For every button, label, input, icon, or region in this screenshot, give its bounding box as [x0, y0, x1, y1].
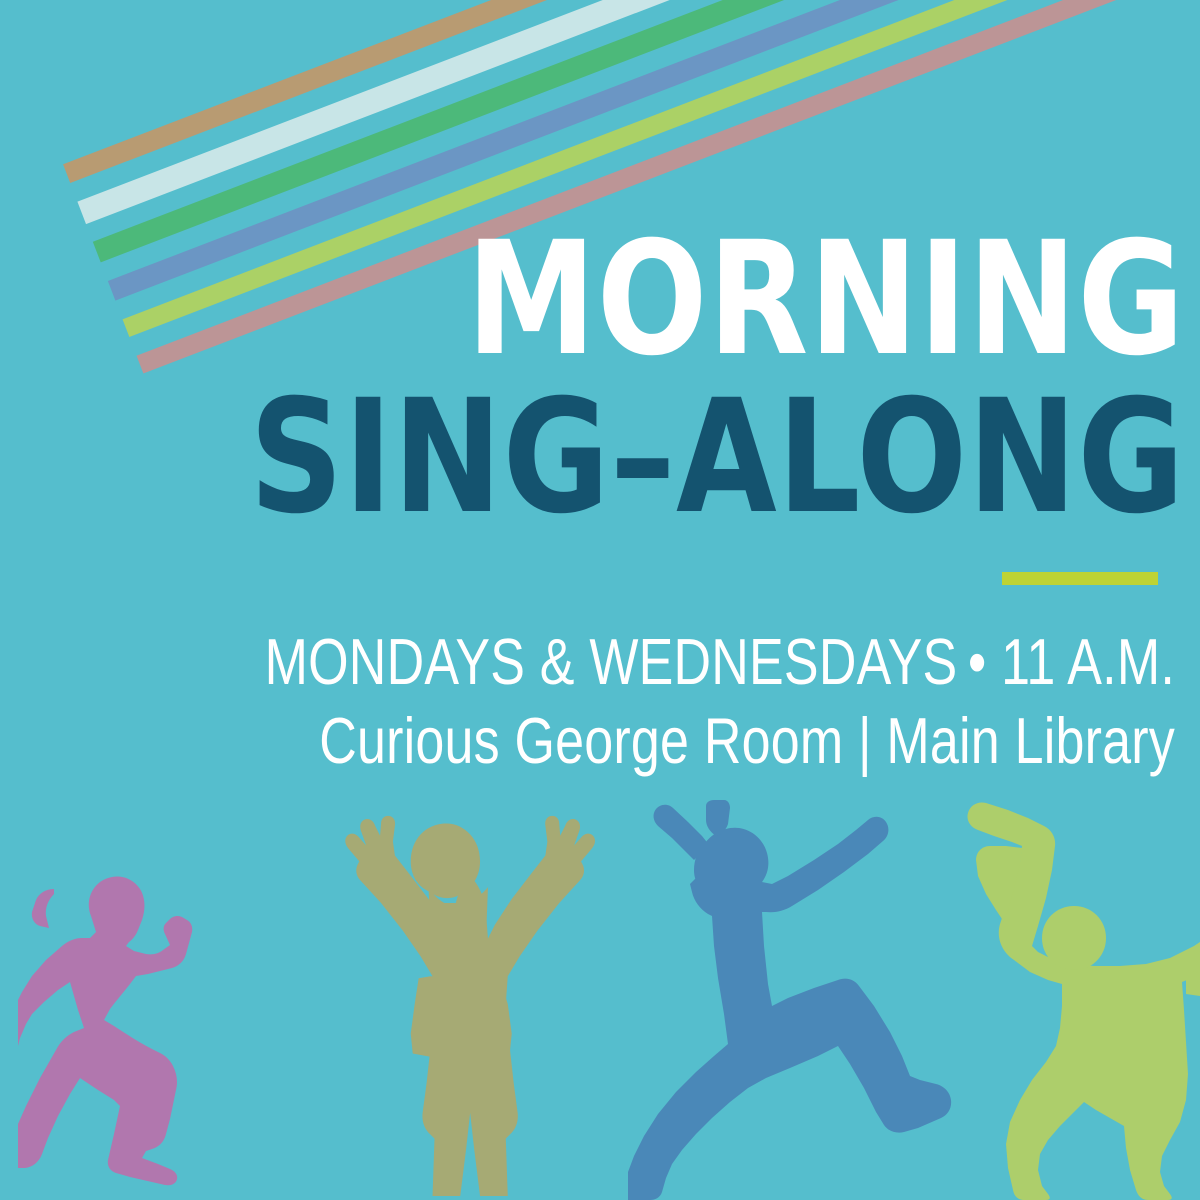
headline-group: MORNING SING–ALONG: [0, 228, 1185, 528]
running-child-silhouette: [18, 877, 192, 1186]
children-silhouettes-group: [0, 800, 1200, 1200]
accent-bar: [1002, 572, 1158, 585]
event-schedule-line: MONDAYS & WEDNESDAYS • 11 A.M.: [235, 622, 1175, 701]
handstand-child-silhouette: [967, 802, 1200, 1200]
event-poster: MORNING SING–ALONG MONDAYS & WEDNESDAYS …: [0, 0, 1200, 1200]
event-details-group: MONDAYS & WEDNESDAYS • 11 A.M. Curious G…: [0, 622, 1175, 781]
jumping-child-silhouette: [628, 800, 951, 1200]
title-line-sing-along: SING–ALONG: [142, 382, 1185, 533]
title-line-morning: MORNING: [142, 224, 1185, 375]
arms-raised-child-silhouette: [345, 816, 595, 1196]
event-location-line: Curious George Room | Main Library: [235, 701, 1175, 780]
